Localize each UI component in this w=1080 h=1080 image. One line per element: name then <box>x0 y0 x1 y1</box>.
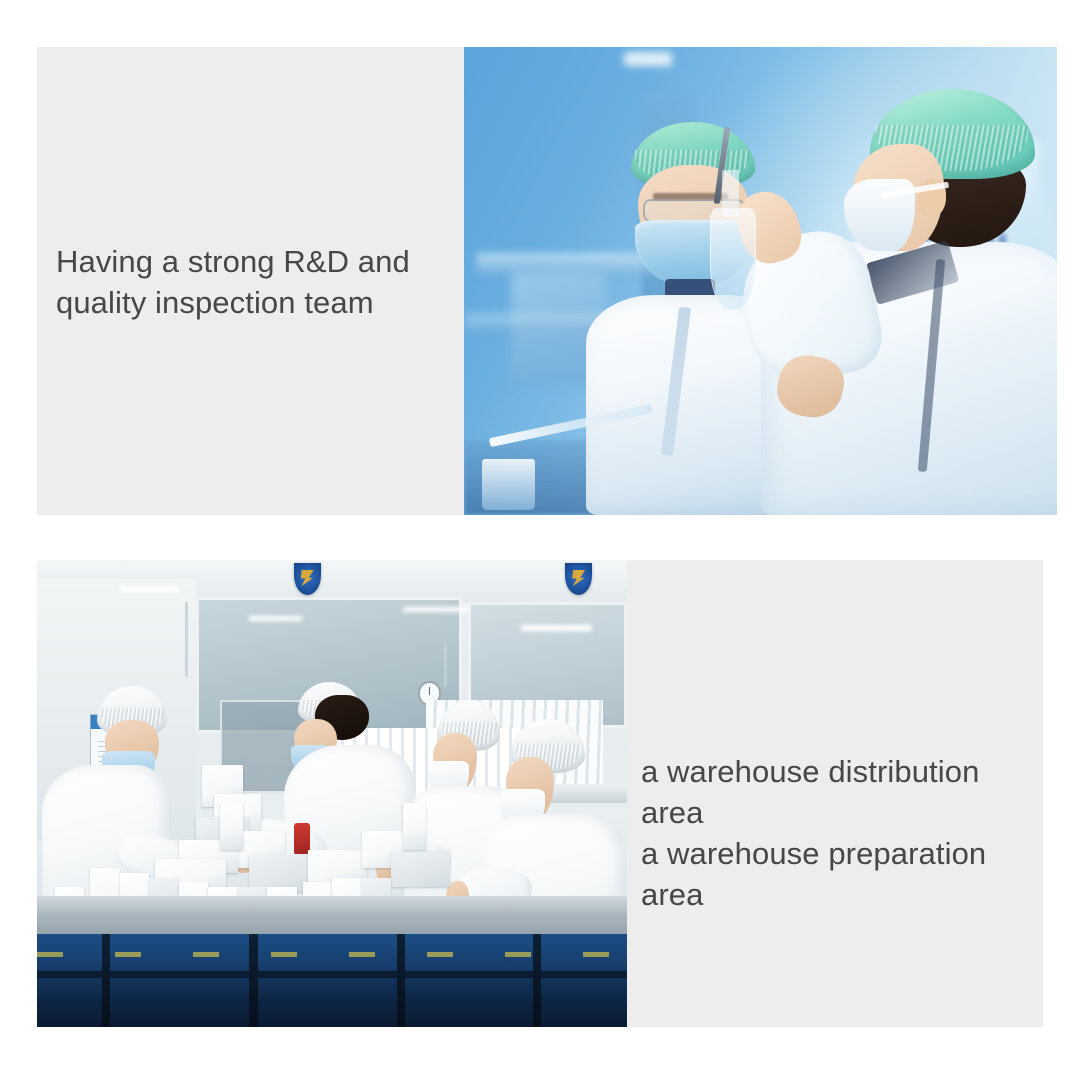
caption-warehouse-areas: a warehouse distribution area a warehous… <box>641 752 1046 916</box>
carton-box <box>391 850 450 887</box>
lab-technician-right <box>784 89 1057 515</box>
carton-box-upright <box>403 803 427 850</box>
photo-warehouse-packaging <box>37 560 627 1027</box>
ceiling-light <box>403 607 468 612</box>
photo-lab-inspection <box>464 47 1057 515</box>
photo-warehouse-packaging-canvas <box>37 560 627 1027</box>
sample-vial-icon <box>482 459 535 510</box>
carton-box-upright <box>220 803 244 850</box>
caption-rd-quality: Having a strong R&D and quality inspecti… <box>56 242 456 324</box>
ceiling-light <box>120 586 179 592</box>
table-leg <box>533 934 541 1027</box>
table-leg <box>249 934 257 1027</box>
lab-ceiling-lamp <box>624 52 671 66</box>
table-leg <box>102 934 110 1027</box>
ceiling-light <box>521 625 592 630</box>
ceiling-light <box>249 616 302 621</box>
poster-page: Having a strong R&D and quality inspecti… <box>0 0 1080 1080</box>
ceiling-hose <box>185 602 189 677</box>
photo-lab-inspection-canvas <box>464 47 1057 515</box>
table-leg <box>397 934 405 1027</box>
glass-flask-icon <box>710 208 756 310</box>
